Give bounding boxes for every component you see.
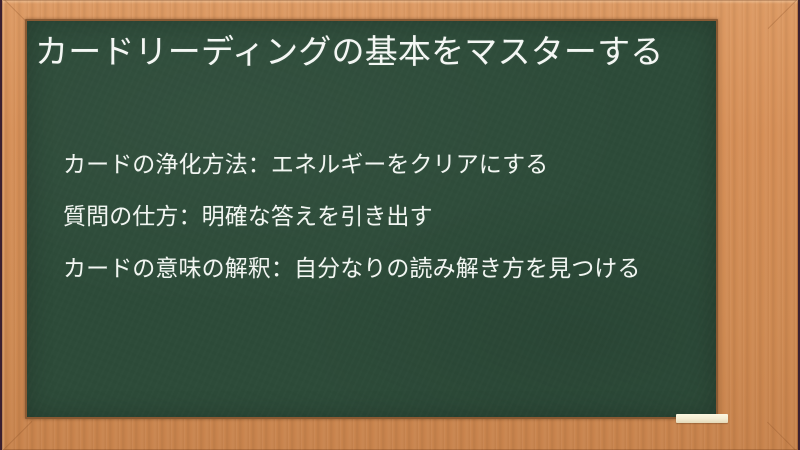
frame-miter-top-right xyxy=(768,0,797,29)
slide-title: カードリーディングの基本をマスターする xyxy=(35,30,707,73)
slide-content: カードリーディングの基本をマスターする カードの浄化方法：エネルギーをクリアにす… xyxy=(27,21,716,417)
bullet-item-3: カードの意味の解釈：自分なりの読み解き方を見つける xyxy=(35,253,699,285)
frame-miter-bottom-right xyxy=(767,422,796,450)
frame-miter-bottom-left xyxy=(3,421,32,450)
chalk-stick-icon xyxy=(676,414,728,423)
slide-bullet-list: カードの浄化方法：エネルギーをクリアにする 質問の仕方：明確な答えを引き出す カ… xyxy=(35,149,699,285)
chalkboard-surface: カードリーディングの基本をマスターする カードの浄化方法：エネルギーをクリアにす… xyxy=(27,21,716,417)
frame-top-highlight xyxy=(2,0,798,4)
slide-canvas: カードリーディングの基本をマスターする カードの浄化方法：エネルギーをクリアにす… xyxy=(0,0,800,450)
frame-left-highlight xyxy=(2,0,5,450)
bullet-item-1: カードの浄化方法：エネルギーをクリアにする xyxy=(35,149,699,181)
bullet-item-2: 質問の仕方：明確な答えを引き出す xyxy=(35,201,699,233)
